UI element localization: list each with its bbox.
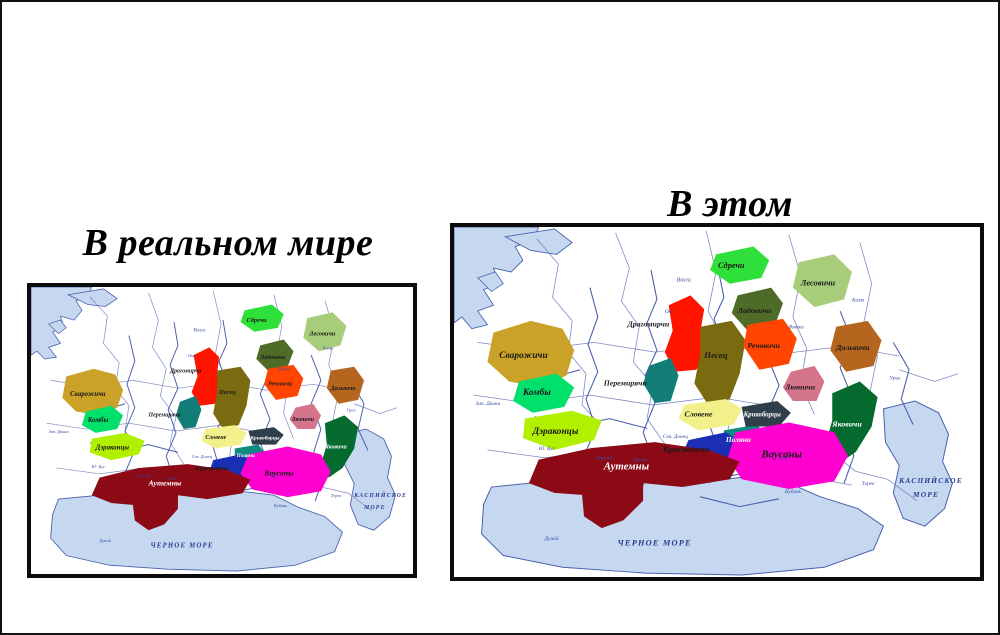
caspian-sea-label-line2: МОРЕ bbox=[363, 505, 386, 511]
label-pesets: Песец bbox=[218, 389, 236, 396]
label-dragomirchi-right: Драгомирчи bbox=[626, 320, 670, 329]
label-krivobortsy: Кривоборцы bbox=[249, 435, 279, 442]
label-krasnovichi-right: Красновичи bbox=[662, 444, 710, 454]
label-derakontsy-right: Дэраконцы bbox=[532, 427, 579, 437]
river-label-don-right: Дон bbox=[778, 456, 788, 462]
label-lesovichi-right: Лесовичи bbox=[800, 279, 836, 288]
label-polyani: Поляни bbox=[236, 453, 255, 459]
caspian-sea-label-line1: КАСПИЙСКОЕ bbox=[353, 491, 407, 499]
black-sea-label-right: ЧЕРНОЕ МОРЕ bbox=[618, 539, 692, 548]
label-dalvichi-right: Дальвичи bbox=[835, 343, 870, 352]
caspian-sea-label-line2-right: МОРЕ bbox=[912, 490, 939, 499]
label-yakovichi: Яковичи bbox=[324, 445, 348, 451]
label-lesovichi: Лесовичи bbox=[308, 331, 336, 338]
label-pesets-right: Песец bbox=[703, 350, 727, 360]
left-map-title: В реальном мире bbox=[18, 222, 438, 265]
river-label-dnestr: Днестр bbox=[136, 474, 152, 479]
label-rechovichi: Речовичи bbox=[268, 381, 293, 387]
label-ladovichi-right: Ладовичи bbox=[737, 306, 772, 315]
river-label-ural-right: Урал bbox=[889, 376, 901, 382]
river-label-kama-right: Кама bbox=[851, 297, 865, 303]
river-label-dunay-right: Дунай bbox=[544, 535, 559, 542]
label-krasnovichi: Красновичи bbox=[195, 465, 230, 472]
river-label-don: Дон bbox=[269, 474, 278, 479]
river-label-sev-donec: Сев. Донец bbox=[192, 454, 213, 459]
label-polyani-right: Поляни bbox=[725, 435, 751, 444]
river-label-vyatka: Вятка bbox=[278, 367, 291, 372]
river-label-dnestr-right: Днестр bbox=[595, 456, 614, 462]
river-label-vyatka-right: Вятка bbox=[789, 325, 804, 331]
label-slovene-right: Словене bbox=[684, 410, 713, 419]
label-krivobortsy-right: Кривоборцы bbox=[743, 412, 781, 419]
river-label-yu-bug-right: Ю. Буг bbox=[538, 446, 555, 452]
river-label-oka-right: Ока bbox=[665, 309, 674, 315]
black-sea-label: ЧЕРНОЕ МОРЕ bbox=[150, 543, 213, 550]
label-komby-right: Комбы bbox=[522, 387, 551, 398]
river-label-zap-dvina: Зап. Двина bbox=[49, 429, 70, 434]
river-label-terek: Терек bbox=[331, 493, 342, 498]
river-label-volga-right: Волга bbox=[677, 278, 691, 284]
river-label-kuban-right: Кубань bbox=[784, 488, 802, 495]
river-label-dnepr-right: Днепр bbox=[632, 458, 647, 464]
label-svarozhichi-right: Сварожичи bbox=[499, 351, 547, 361]
label-lyutichi: Лютичи bbox=[291, 417, 315, 423]
map-fictional-world[interactable]: Сварожичи Комбы Дэраконцы Драгомирчи Пер… bbox=[450, 223, 984, 581]
label-peremiryachi-right: Перемирячи bbox=[603, 378, 648, 387]
label-ladovichi: Ладовичи bbox=[259, 354, 286, 361]
label-dragomirchi: Драгомирчи bbox=[169, 369, 202, 375]
label-peremiryachi: Перемирячи bbox=[148, 412, 182, 418]
river-label-yu-bug: Ю. Буг bbox=[91, 464, 105, 469]
label-vausany: Ваусаны bbox=[263, 469, 294, 478]
river-label-dnepr: Днепр bbox=[165, 476, 178, 481]
river-label-zap-dvina-right: Зап. Двина bbox=[476, 401, 501, 407]
label-slovene: Словене bbox=[205, 435, 226, 441]
label-sdrechi: Сдречи bbox=[246, 317, 267, 324]
river-label-kuban: Кубань bbox=[273, 503, 287, 508]
river-label-volga: Волга bbox=[194, 329, 206, 334]
right-map-title-line1: В этом bbox=[470, 183, 990, 226]
label-rechovichi-right: Речовичи bbox=[748, 341, 781, 350]
river-label-oka: Ока bbox=[188, 353, 196, 358]
label-sdrechi-right: Сдречи bbox=[718, 261, 745, 270]
map-real-world[interactable]: Сварожичи Комбы Дэраконцы Драгомирчи Пер… bbox=[27, 283, 417, 578]
label-svarozhichi: Сварожичи bbox=[70, 391, 106, 398]
caspian-sea-label-line1-right: КАСПИЙСКОЕ bbox=[898, 475, 963, 485]
label-yakovichi-right: Яковичи bbox=[831, 419, 862, 428]
label-dalvichi: Дальвичи bbox=[330, 386, 357, 392]
label-lyutichi-right: Лютичи bbox=[784, 382, 816, 391]
river-label-kama: Кама bbox=[322, 345, 334, 350]
river-label-sev-donec-right: Сев. Донец bbox=[663, 434, 688, 440]
label-derakontsy: Дэраконцы bbox=[95, 444, 130, 451]
river-label-ural: Урал bbox=[346, 408, 355, 413]
label-komby: Комбы bbox=[87, 417, 109, 424]
river-label-terek-right: Терек bbox=[862, 481, 875, 487]
river-label-dunay: Дунай bbox=[99, 538, 112, 543]
